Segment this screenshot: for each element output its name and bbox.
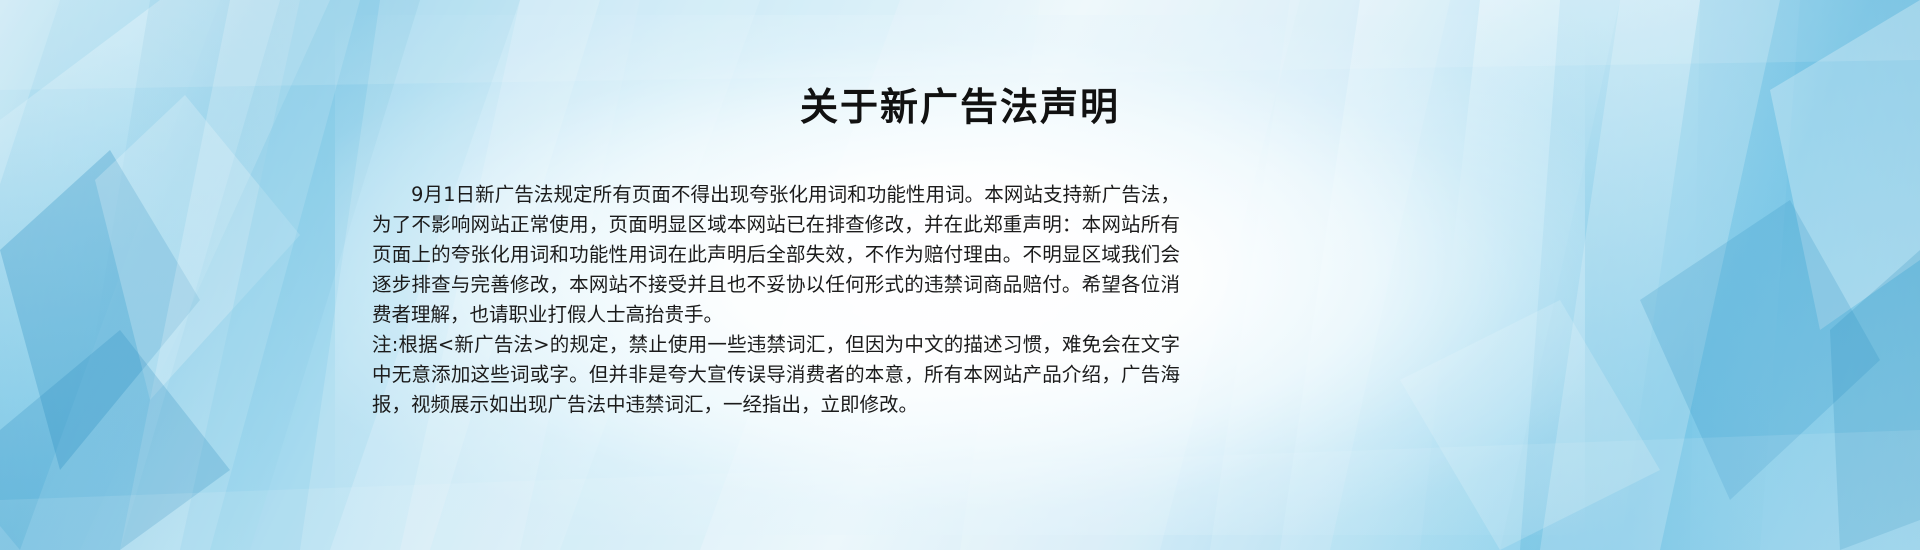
statement-paragraph-2: 注:根据<新广告法>的规定，禁止使用一些违禁词汇，但因为中文的描述习惯，难免会在… — [372, 330, 1180, 420]
statement-content: 关于新广告法声明 9月1日新广告法规定所有页面不得出现夸张化用词和功能性用词。本… — [0, 0, 1920, 550]
statement-paragraph-1: 9月1日新广告法规定所有页面不得出现夸张化用词和功能性用词。本网站支持新广告法，… — [372, 180, 1180, 330]
advertising-law-statement-banner: 关于新广告法声明 9月1日新广告法规定所有页面不得出现夸张化用词和功能性用词。本… — [0, 0, 1920, 550]
page-title: 关于新广告法声明 — [0, 84, 1920, 130]
statement-body: 9月1日新广告法规定所有页面不得出现夸张化用词和功能性用词。本网站支持新广告法，… — [372, 180, 1180, 420]
